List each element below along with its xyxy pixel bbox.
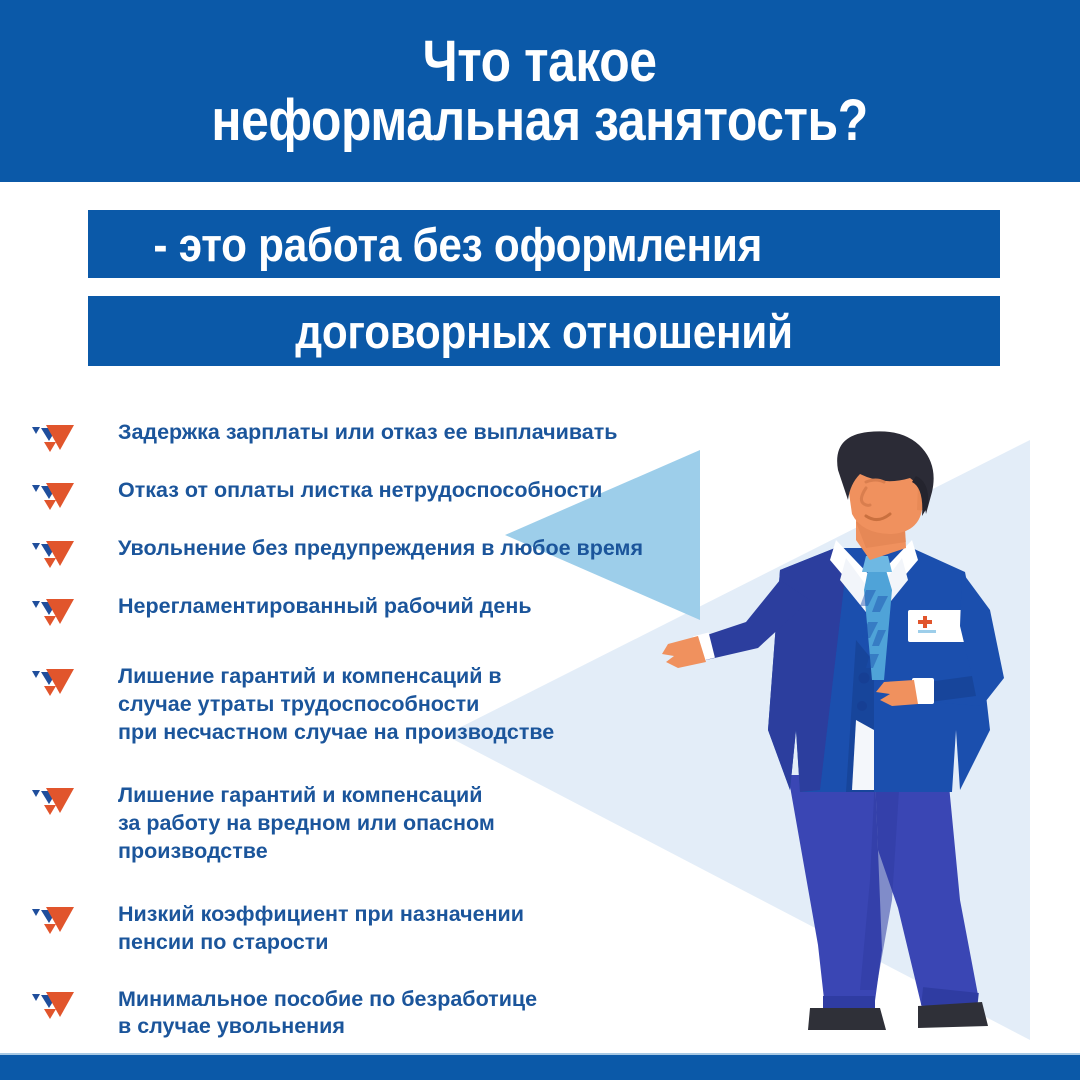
list-item-label: Низкий коэффициент при назначении пенсии… [118, 900, 524, 957]
subtitle-bar-1: - это работа без оформления [88, 210, 1000, 278]
list-item-label: Отказ от оплаты листка нетрудоспособност… [118, 476, 602, 505]
triangle-bullet-icon [28, 536, 74, 576]
shoe-left [808, 1008, 886, 1030]
list-item: Отказ от оплаты листка нетрудоспособност… [28, 476, 748, 518]
footer-bar [0, 1055, 1080, 1080]
list-item: Задержка зарплаты или отказ ее выплачива… [28, 418, 748, 460]
page-title: Что такое неформальная занятость? [195, 32, 886, 150]
triangle-bullet-icon [28, 987, 74, 1027]
hand-left [662, 636, 706, 668]
triangle-bullet-icon [28, 783, 74, 823]
subtitle-bar-2: договорных отношений [88, 296, 1000, 366]
shoe-right [918, 1002, 988, 1028]
infographic-poster: Что такое неформальная занятость? - это … [0, 0, 1080, 1080]
subtitle-text-2: договорных отношений [134, 308, 955, 355]
triangle-bullet-icon [28, 594, 74, 634]
jacket-button-top [859, 673, 870, 684]
list-item-label: Нерегламентированный рабочий день [118, 592, 532, 621]
list-item: Лишение гарантий и компенсаций в случае … [28, 662, 748, 747]
list-item-label: Лишение гарантий и компенсаций в случае … [118, 662, 554, 747]
jacket-button-bottom [857, 701, 867, 711]
necktie-knot [862, 556, 892, 572]
triangle-bullet-icon [28, 478, 74, 518]
list-item-label: Увольнение без предупреждения в любое вр… [118, 534, 643, 563]
triangle-bullet-icon [28, 664, 74, 704]
list-item: Нерегламентированный рабочий день [28, 592, 748, 634]
subtitle-text-1: - это работа без оформления [134, 221, 955, 268]
list-item: Минимальное пособие по безработице в слу… [28, 985, 748, 1042]
list-item-label: Минимальное пособие по безработице в слу… [118, 985, 537, 1042]
list-item-label: Лишение гарантий и компенсаций за работу… [118, 781, 495, 866]
consequences-list: Задержка зарплаты или отказ ее выплачива… [28, 418, 748, 1059]
header-banner: Что такое неформальная занятость? [0, 0, 1080, 182]
businessman-illustration [660, 430, 1080, 1050]
triangle-bullet-icon [28, 420, 74, 460]
list-item: Лишение гарантий и компенсаций за работу… [28, 781, 748, 866]
list-item: Увольнение без предупреждения в любое вр… [28, 534, 748, 576]
triangle-bullet-icon [28, 902, 74, 942]
list-item: Низкий коэффициент при назначении пенсии… [28, 900, 748, 957]
list-item-label: Задержка зарплаты или отказ ее выплачива… [118, 418, 617, 447]
